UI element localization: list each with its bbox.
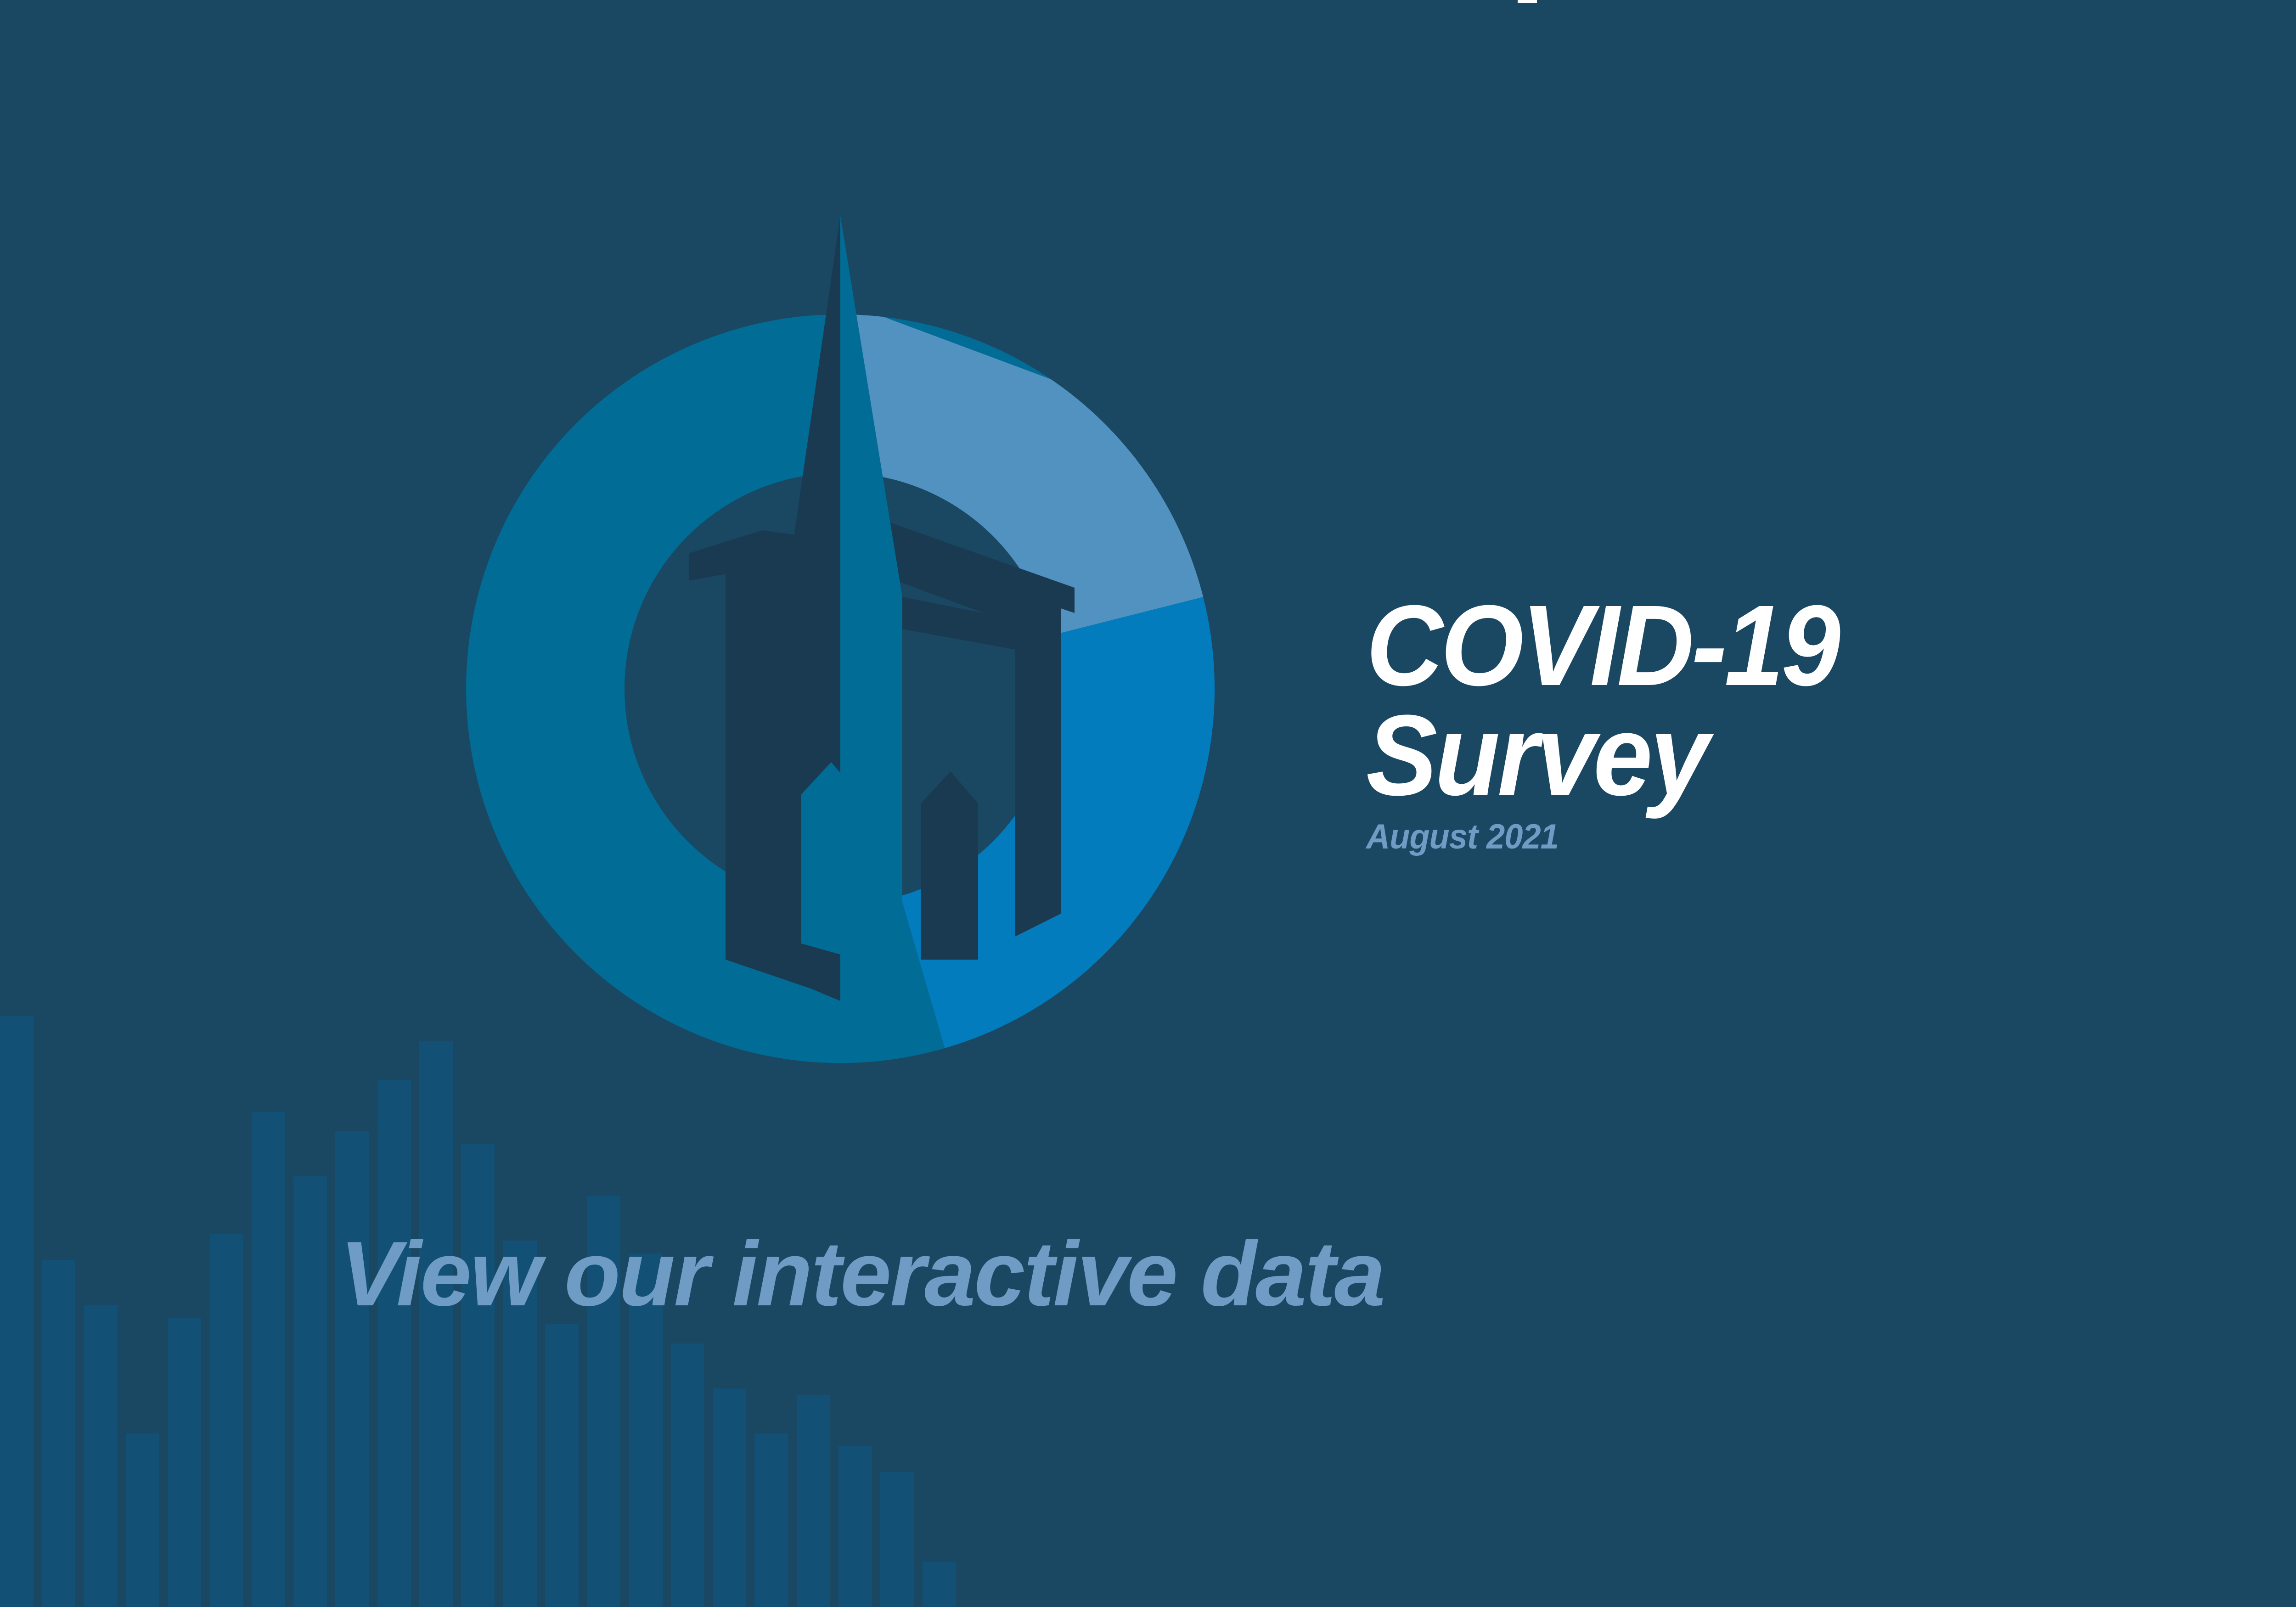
chart-bar bbox=[797, 1395, 830, 1607]
poster-canvas: COVID-19 Survey August 2021 View our int… bbox=[0, 0, 2296, 1607]
window-right bbox=[921, 771, 978, 960]
logo-svg bbox=[358, 138, 1322, 1148]
chart-bar bbox=[126, 1433, 159, 1607]
chart-bar bbox=[210, 1234, 243, 1607]
subtitle-date: August 2021 bbox=[1366, 817, 2195, 857]
page-title-line-1: COVID-19 bbox=[1366, 592, 2178, 699]
chart-bar bbox=[84, 1305, 118, 1607]
chart-bar bbox=[42, 1260, 75, 1607]
top-edge-artifact bbox=[1518, 0, 1537, 3]
title-block: COVID-19 Survey August 2021 bbox=[1366, 592, 2239, 857]
church-donut-chart-logo bbox=[358, 138, 1322, 1148]
chart-bar bbox=[880, 1472, 914, 1607]
chart-bar bbox=[252, 1112, 285, 1607]
chart-bar bbox=[335, 1131, 369, 1607]
chart-bar bbox=[377, 1080, 411, 1607]
chart-bar bbox=[923, 1562, 956, 1607]
tagline-view-interactive-data[interactable]: View our interactive data bbox=[340, 1221, 1384, 1327]
chart-bar bbox=[461, 1144, 495, 1607]
page-title-line-2: Survey bbox=[1366, 702, 2178, 809]
chart-bar bbox=[838, 1446, 872, 1607]
chart-bar bbox=[754, 1433, 788, 1607]
chart-bar bbox=[0, 1016, 34, 1607]
chart-bar bbox=[168, 1318, 201, 1607]
chart-bar bbox=[293, 1176, 327, 1607]
chart-bar bbox=[545, 1324, 579, 1607]
chart-bar bbox=[671, 1343, 704, 1607]
window-left bbox=[801, 762, 859, 960]
chart-bar bbox=[713, 1388, 746, 1607]
